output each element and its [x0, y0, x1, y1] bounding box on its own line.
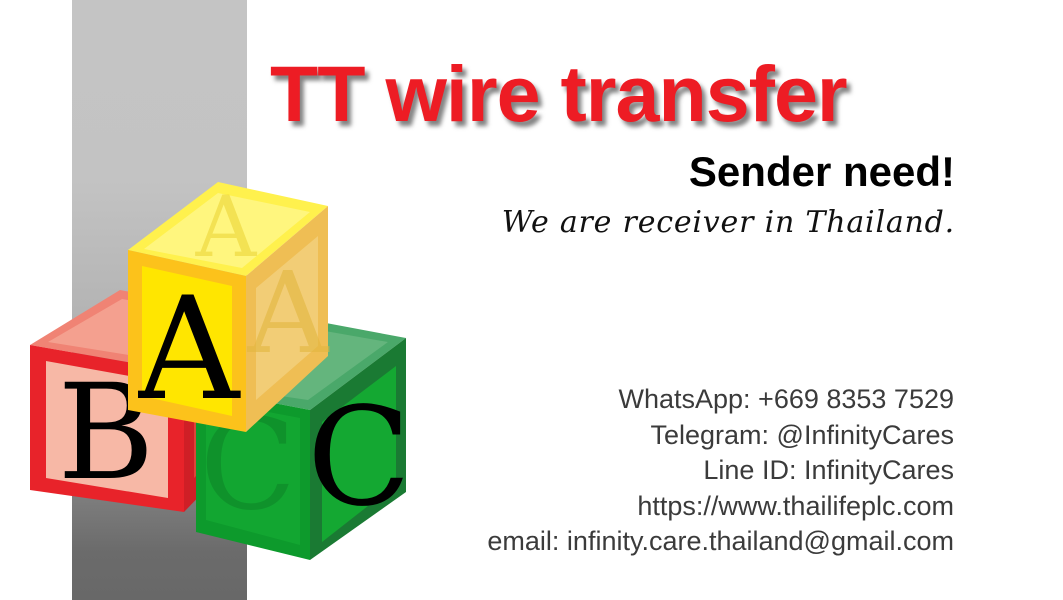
- contact-line-email[interactable]: email: infinity.care.thailand@gmail.com: [270, 524, 954, 560]
- contact-list: WhatsApp: +669 8353 7529 Telegram: @Infi…: [270, 382, 954, 560]
- contact-line-telegram: Telegram: @InfinityCares: [270, 418, 954, 454]
- contact-line-website[interactable]: https://www.thailifeplc.com: [270, 489, 954, 525]
- promo-banner: B C C: [0, 0, 1063, 600]
- contact-line-whatsapp: WhatsApp: +669 8353 7529: [270, 382, 954, 418]
- page-subtitle: Sender need!: [270, 148, 955, 196]
- page-tagline: We are receiver in Thailand.: [270, 204, 955, 242]
- text-column: TT wire transfer Sender need! We are rec…: [270, 0, 960, 600]
- contact-line-lineid: Line ID: InfinityCares: [270, 453, 954, 489]
- page-title: TT wire transfer: [270, 52, 960, 136]
